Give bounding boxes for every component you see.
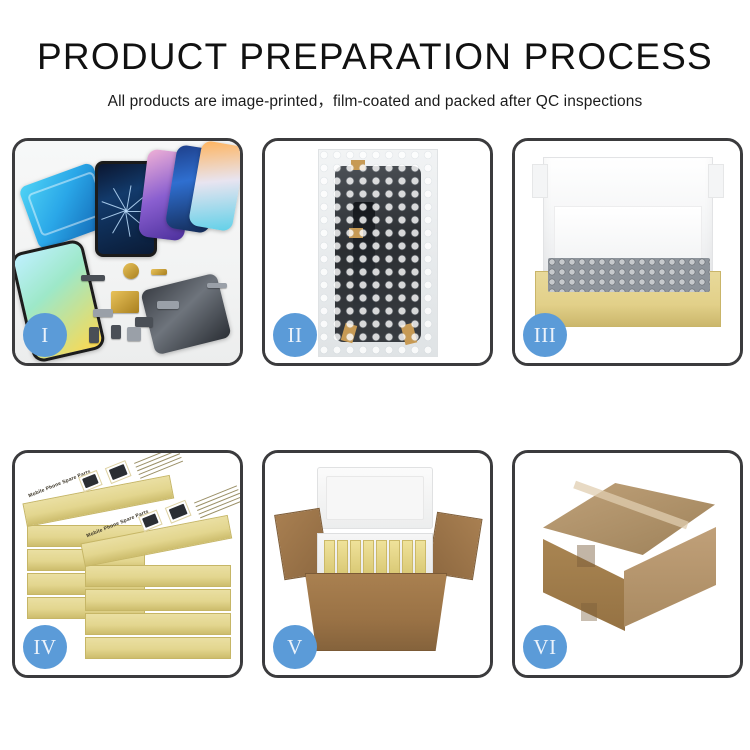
stacked-box (85, 565, 231, 587)
box-spec-lines (134, 453, 185, 483)
shield-part-icon (157, 301, 179, 309)
steps-grid: I II (12, 138, 738, 678)
yellow-boxes-row (324, 540, 426, 576)
box-window-right (165, 500, 192, 524)
stacked-box (85, 637, 231, 659)
step-badge-2: II (273, 313, 317, 357)
carton-body-image (305, 573, 447, 651)
step-panel-5: V (262, 450, 493, 678)
lid-flap-left (532, 164, 548, 198)
page-subtitle: All products are image-printed，film-coat… (0, 89, 750, 111)
foam-lid-image (317, 467, 433, 529)
top-box-right: Mobile Phone Spare Parts (80, 515, 232, 567)
carton-flap-right (427, 512, 482, 580)
bubble-texture (319, 150, 437, 356)
carton-tab-lower (581, 603, 597, 621)
bubble-wrap-bag-image (318, 149, 438, 357)
box-spec-lines (194, 485, 240, 523)
step-panel-2: II (262, 138, 493, 366)
bracket-part-icon (93, 309, 113, 317)
step-badge-1: I (23, 313, 67, 357)
infographic-page: PRODUCT PREPARATION PROCESS All products… (0, 0, 750, 750)
button-part-icon (135, 317, 153, 327)
step-panel-3: III (512, 138, 743, 366)
camera-part-icon (111, 325, 121, 339)
step-badge-4: IV (23, 625, 67, 669)
step-panel-1: I (12, 138, 243, 366)
page-title: PRODUCT PREPARATION PROCESS (0, 38, 750, 77)
step-panel-4: Mobile Phone Spare Parts Mobile Phone Sp… (12, 450, 243, 678)
step-badge-3: III (523, 313, 567, 357)
step-badge-5: V (273, 625, 317, 669)
flex-cable-part-icon (151, 269, 167, 275)
header: PRODUCT PREPARATION PROCESS All products… (0, 0, 750, 111)
stacked-box (85, 589, 231, 611)
kraft-tray-image (535, 271, 721, 327)
step-badge-6: VI (523, 625, 567, 669)
stacked-box (85, 613, 231, 635)
lid-flap-right (708, 164, 724, 198)
bubble-wrapped-contents (548, 258, 710, 292)
sim-tray-part-icon (89, 327, 99, 343)
connector-grid-part-icon (111, 291, 139, 313)
speaker-part-icon (123, 263, 139, 279)
box-window-right (105, 460, 132, 484)
step-panel-6: VI (512, 450, 743, 678)
motor-part-icon (127, 327, 141, 341)
screwdriver-part-icon (207, 283, 227, 288)
earpiece-part-icon (81, 275, 105, 281)
carton-tab-upper (577, 545, 595, 567)
